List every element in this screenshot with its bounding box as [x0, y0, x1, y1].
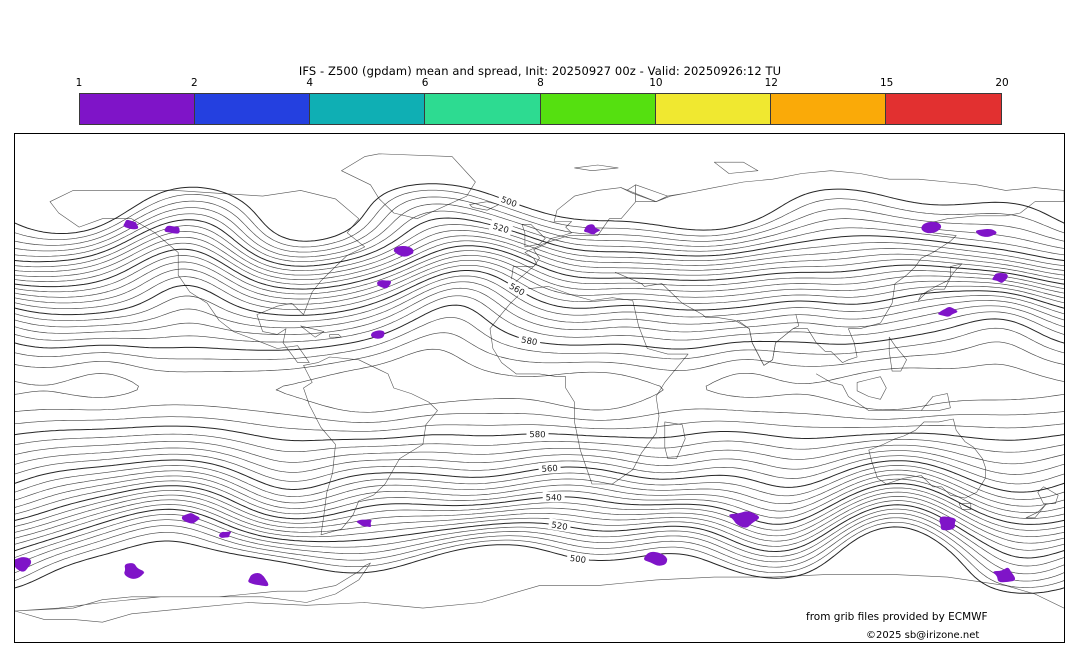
weather-map-page: IFS - Z500 (gpdam) mean and spread, Init…	[0, 0, 1080, 658]
map-contour-plot: 500500520520540560560580580	[15, 134, 1064, 642]
spread-patch	[165, 226, 180, 234]
spread-patch	[938, 307, 959, 317]
colorbar-tick-1: 1	[76, 76, 83, 90]
contour-lines	[15, 184, 1064, 594]
data-source-credit: from grib files provided by ECMWF	[806, 611, 988, 623]
colorbar-tick-8: 8	[537, 76, 544, 90]
svg-text:500: 500	[569, 554, 586, 566]
svg-text:580: 580	[520, 335, 538, 348]
colorbar-segment-8-10	[541, 94, 656, 124]
colorbar-tick-10: 10	[649, 76, 662, 90]
colorbar-tick-4: 4	[306, 76, 313, 90]
spread-patch	[993, 568, 1015, 582]
spread-patch	[584, 224, 601, 234]
contour-labels: 500500520520540560560580580	[489, 192, 590, 566]
spread-patch	[357, 520, 372, 527]
colorbar-segment-1-2	[80, 94, 195, 124]
svg-text:520: 520	[551, 520, 569, 532]
colorbar-segments	[79, 93, 1002, 125]
spread-patch	[182, 513, 201, 523]
spread-patch	[377, 280, 391, 288]
spread-patch	[219, 532, 231, 538]
colorbar-tick-6: 6	[422, 76, 429, 90]
spread-patch	[15, 557, 32, 571]
colorbar-segment-15-20	[886, 94, 1001, 124]
svg-text:540: 540	[546, 493, 562, 503]
coastlines	[15, 154, 1064, 622]
colorbar-tick-20: 20	[995, 76, 1008, 90]
spread-patch	[939, 516, 955, 530]
spread-patch	[248, 573, 268, 586]
colorbar-segment-4-6	[310, 94, 425, 124]
colorbar-segment-2-4	[195, 94, 310, 124]
colorbar-tick-12: 12	[765, 76, 778, 90]
svg-text:580: 580	[529, 430, 545, 440]
colorbar-segment-6-8	[425, 94, 540, 124]
spread-patch	[394, 246, 414, 257]
svg-text:560: 560	[541, 464, 558, 475]
colorbar-tick-labels: 1246810121520	[79, 76, 1002, 92]
copyright-credit: ©2025 sb@irizone.net	[866, 630, 979, 641]
spread-patch	[921, 222, 941, 233]
colorbar-segment-12-15	[771, 94, 886, 124]
svg-text:500: 500	[499, 195, 518, 210]
colorbar-tick-15: 15	[880, 76, 893, 90]
spread-patch	[976, 229, 998, 237]
colorbar-tick-2: 2	[191, 76, 198, 90]
colorbar: 1246810121520	[79, 93, 1002, 125]
spread-patch	[992, 273, 1008, 283]
map-canvas[interactable]: 500500520520540560560580580	[14, 133, 1065, 643]
spread-patch	[371, 330, 385, 338]
spread-patch	[124, 563, 145, 579]
colorbar-segment-10-12	[656, 94, 771, 124]
